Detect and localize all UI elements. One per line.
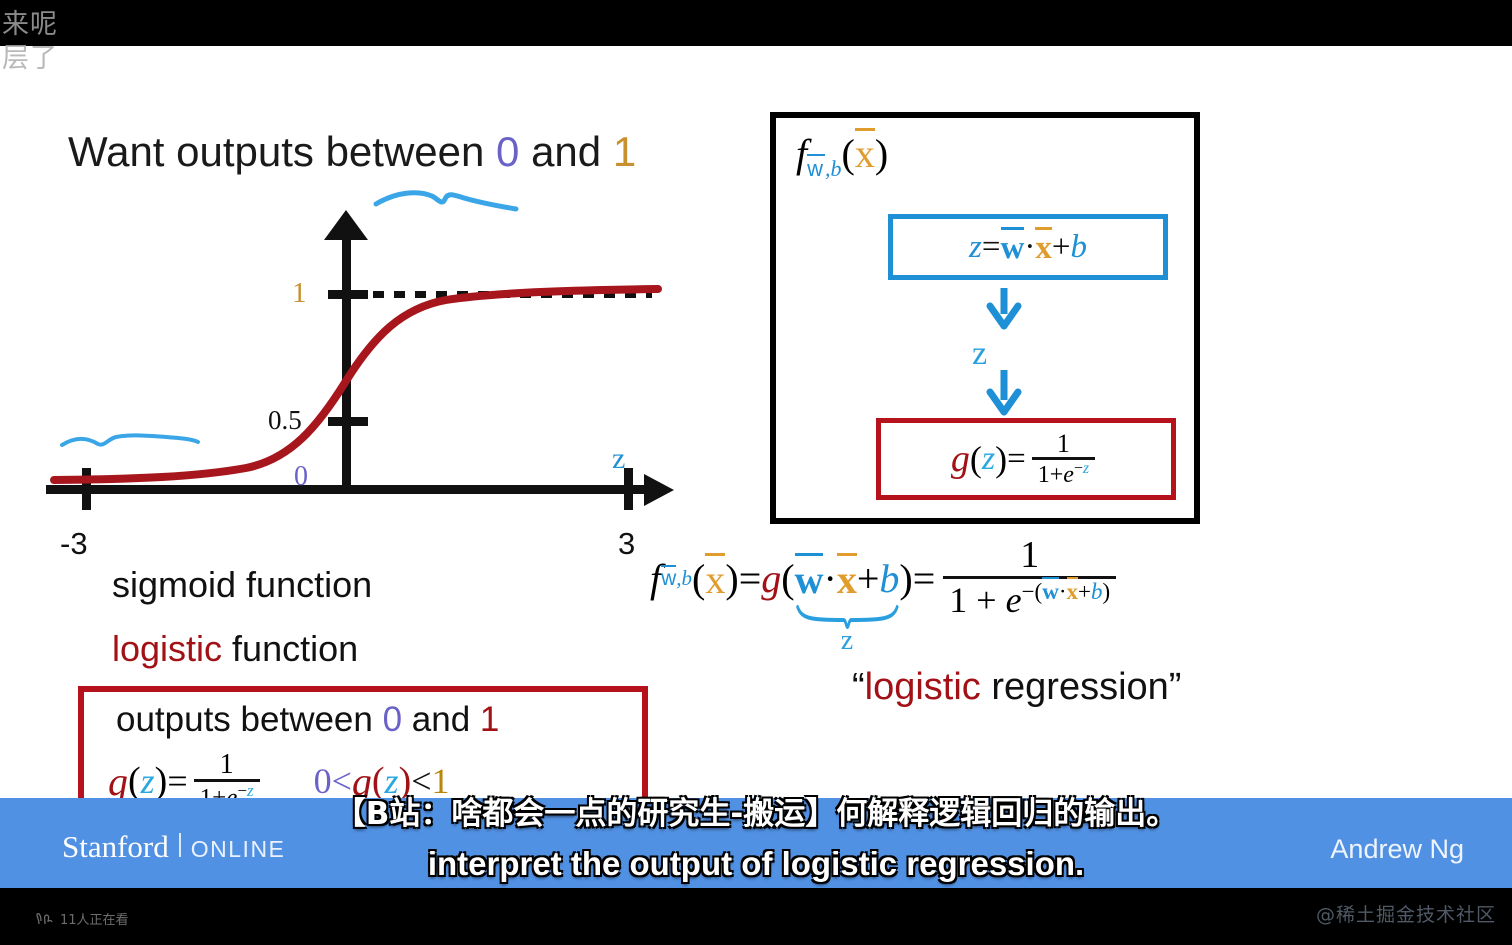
eq-denominator: 1 + e−(w·x+b) — [943, 579, 1116, 621]
rb-lparen: ( — [970, 438, 982, 480]
rb-g: g — [951, 437, 970, 481]
fn-x-vector: x — [855, 128, 875, 176]
function-notation: fw,b(x) — [796, 130, 888, 182]
eq-numerator: 1 — [1014, 536, 1045, 576]
arrow-head-lower — [990, 392, 1018, 412]
eq-lp2: ( — [781, 555, 794, 602]
outputs-prefix: outputs between — [116, 700, 383, 739]
eq-x2-vector: x — [837, 553, 857, 603]
sigmoid-application-box: g(z) = 1 1+e−z — [876, 418, 1176, 500]
eq-lp1: ( — [692, 555, 705, 602]
eq-exp-b: b — [1091, 579, 1103, 604]
fn-sub-w-vector: w — [807, 154, 825, 181]
eq-den-e: e — [1006, 580, 1022, 620]
eq-dot: · — [823, 555, 836, 602]
bb-b: b — [1070, 229, 1087, 266]
rb-exp-minus: − — [1074, 460, 1083, 477]
rb-z: z — [982, 440, 995, 478]
eq-rp2: ) — [899, 555, 912, 602]
video-player-stage: Want outputs between 0 and 1 1 0.5 -3 0 … — [0, 0, 1512, 945]
fn-f: f — [796, 131, 807, 176]
rb-den-e: e — [1063, 462, 1074, 488]
eq-exp-plus: + — [1078, 579, 1091, 604]
fn-rparen: ) — [875, 131, 888, 176]
lr-logistic-word: logistic — [865, 666, 981, 708]
caption-logistic-function: logistic function — [112, 628, 358, 670]
eq-f: f — [650, 555, 661, 602]
squiggle-annotation-lower — [62, 435, 198, 445]
lr-regression-word: regression — [981, 666, 1169, 708]
sigmoid-curve-svg — [46, 176, 686, 546]
brace-label-z: z — [841, 625, 853, 657]
site-watermark: @稀土掘金技术社区 — [1316, 900, 1496, 927]
logistic-regression-equation: fw,b(x) = g( w·x+b z ) = 1 1 + e−(w·x+b) — [650, 536, 1124, 620]
rb-numerator: 1 — [1051, 430, 1076, 457]
subtitle-chinese: 【B站：啥都会一点的研究生-搬运】何解释逻辑回归的输出。 — [0, 788, 1512, 833]
eq-fraction: 1 1 + e−(w·x+b) — [943, 536, 1116, 620]
lr-open-quote: “ — [852, 666, 865, 708]
outputs-mid: and — [402, 700, 480, 739]
eq-equals1: = — [739, 555, 762, 602]
underbrace-path — [797, 607, 897, 627]
heading-one: 1 — [613, 128, 636, 175]
intermediate-variable-z: z — [972, 335, 987, 373]
fn-sub-b: b — [831, 156, 842, 181]
arrow-head-upper — [990, 306, 1018, 326]
caption-logistic-regression: “logistic regression” — [852, 666, 1181, 709]
eq-plus: + — [857, 555, 880, 602]
eq-rp1: ) — [725, 555, 738, 602]
slide-heading: Want outputs between 0 and 1 — [68, 128, 636, 176]
squiggle-annotation-upper — [376, 193, 516, 209]
rb-rparen: ) — [995, 438, 1007, 480]
subtitle-english: interpret the output of logistic regress… — [0, 845, 1512, 883]
rb-equals: = — [1007, 441, 1026, 478]
rb-exp-z: z — [1083, 460, 1089, 477]
eq-exp-rparen: ) — [1103, 579, 1111, 604]
eq-sub-w: w — [661, 565, 676, 590]
eq-exp-x-vector: x — [1067, 577, 1079, 604]
eq-g: g — [761, 555, 781, 602]
rb-denominator: 1+e−z — [1032, 460, 1095, 488]
bb-plus: + — [1052, 229, 1071, 266]
sigmoid-curve — [54, 289, 658, 480]
rb-den-one-plus: 1+ — [1038, 462, 1064, 488]
linear-term-box: z = w · x + b — [888, 214, 1168, 280]
heading-zero: 0 — [496, 128, 519, 175]
eq-sub-b: b — [682, 566, 693, 590]
eq-den-one-plus: 1 + — [949, 580, 1005, 620]
bb-w-vector: w — [1001, 227, 1025, 267]
viewer-count-label: 11人正在看 — [60, 909, 129, 928]
eq-exp-dot: · — [1059, 579, 1067, 604]
rb-fraction: 1 1+e−z — [1032, 430, 1095, 489]
eq-w-vector: w — [795, 553, 824, 603]
caption-logistic-rest: function — [222, 628, 358, 669]
top-letterbox-bar — [0, 0, 1512, 46]
viewers-icon — [36, 912, 53, 926]
eq-x1: x — [705, 553, 725, 603]
outputs-one: 1 — [480, 700, 499, 739]
lr-close-quote: ” — [1169, 666, 1182, 708]
slide-canvas: Want outputs between 0 and 1 1 0.5 -3 0 … — [0, 46, 1512, 888]
caption-sigmoid-function: sigmoid function — [112, 564, 372, 606]
outputs-range-text: outputs between 0 and 1 — [116, 700, 499, 740]
viewer-count: 11人正在看 — [36, 909, 129, 928]
eq-exp-minus: − — [1022, 579, 1035, 604]
eq-equals2: = — [913, 555, 936, 602]
eq-exp-w-vector: w — [1042, 577, 1059, 604]
bb-dot: · — [1024, 229, 1035, 266]
outputs-zero: 0 — [383, 700, 402, 739]
heading-prefix: Want outputs between — [68, 128, 496, 175]
eq-b: b — [879, 555, 899, 602]
bb-equals: = — [982, 229, 1001, 266]
fn-lparen: ( — [842, 131, 855, 176]
bottom-letterbox-bar — [0, 888, 1512, 945]
heading-mid: and — [519, 128, 612, 175]
bb-x-vector: x — [1035, 227, 1052, 267]
pipeline-diagram-box: fw,b(x) z = w · x + b z g(z) = 1 1+e−z — [770, 112, 1200, 524]
sigmoid-chart: 1 0.5 -3 0 3 z — [46, 176, 686, 546]
fraction-numerator: 1 — [214, 750, 240, 779]
overlay-text-line-2: 层了 — [2, 36, 58, 75]
z-brace-group: w·x+b z — [795, 553, 900, 603]
bb-z: z — [969, 229, 982, 266]
caption-logistic-word: logistic — [112, 628, 222, 669]
